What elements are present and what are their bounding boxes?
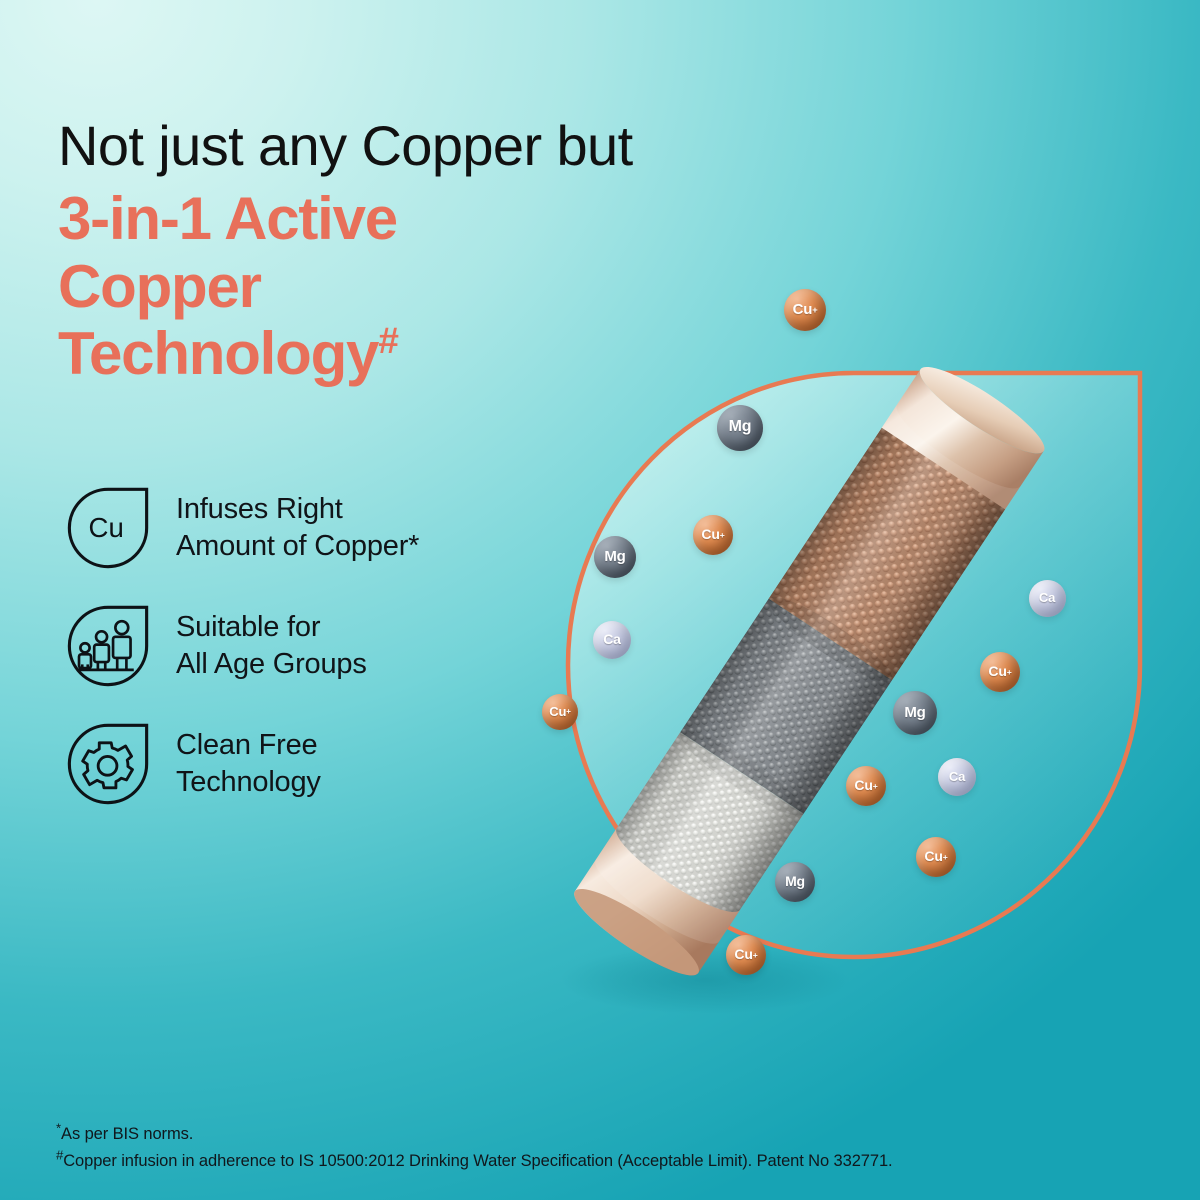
headline-line-1: 3-in-1 Active [58,185,698,252]
ion-bubble-mg: Mg [717,405,763,451]
footnote-text: Copper infusion in adherence to IS 10500… [63,1152,892,1170]
feature-text-copper: Infuses Right Amount of Copper* [176,491,419,565]
ion-bubble-ca: Ca [593,621,631,659]
headline-line-3-text: Technology [58,320,378,387]
ion-bubble-ca: Ca [1029,580,1066,617]
feature-line: Suitable for [176,609,367,646]
feature-item-clean-free: Clean Free Technology [62,718,542,810]
feature-text-all-ages: Suitable for All Age Groups [176,609,367,683]
headline-main: 3-in-1 Active Copper Technology# [58,185,698,387]
feature-line: Amount of Copper* [176,528,419,565]
ion-bubble-cu: Cu+ [980,652,1020,692]
footnote-text: As per BIS norms. [61,1125,193,1143]
ion-bubble-mg: Mg [594,536,636,578]
ion-bubble-cu: Cu+ [726,935,766,975]
feature-list: Cu Infuses Right Amount of Copper* [62,482,542,810]
feature-line: Infuses Right [176,491,419,528]
feature-line: Clean Free [176,727,321,764]
ion-bubble-cu: Cu+ [846,766,886,806]
copper-cartridge-image [500,280,1140,1020]
headline-block: Not just any Copper but 3-in-1 Active Co… [58,116,698,387]
gear-droplet-icon [62,718,154,810]
top-cap [868,355,1053,530]
bottom-cap [565,828,740,987]
cu-icon-label: Cu [89,512,124,543]
feature-line: Technology [176,764,321,801]
ion-bubble-cu: Cu+ [784,289,826,331]
feature-text-clean-free: Clean Free Technology [176,727,321,801]
cu-droplet-icon: Cu [62,482,154,574]
ion-bubble-cu: Cu+ [693,515,733,555]
headline-top-line: Not just any Copper but [58,116,698,175]
ion-bubble-mg: Mg [893,691,937,735]
footnote-2: #Copper infusion in adherence to IS 1050… [56,1148,1136,1174]
ion-bubble-ca: Ca [938,758,976,796]
product-banner: Cu+MgCu+MgCaCaCu+Cu+MgCu+CaMgCu+Cu+ Not … [0,0,1200,1200]
ion-bubble-cu: Cu+ [542,694,578,730]
headline-line-3: Technology# [58,320,698,387]
footnotes: *As per BIS norms. #Copper infusion in a… [56,1121,1136,1174]
headline-line-2: Copper [58,253,698,320]
feature-item-copper: Cu Infuses Right Amount of Copper* [62,482,542,574]
feature-line: All Age Groups [176,646,367,683]
leaf-outline-decoration [560,365,1150,960]
headline-superscript: # [378,319,397,361]
family-droplet-icon [62,600,154,692]
ion-bubble-cu: Cu+ [916,837,956,877]
ion-bubble-mg: Mg [775,862,815,902]
feature-item-all-ages: Suitable for All Age Groups [62,600,542,692]
footnote-1: *As per BIS norms. [56,1121,1136,1147]
